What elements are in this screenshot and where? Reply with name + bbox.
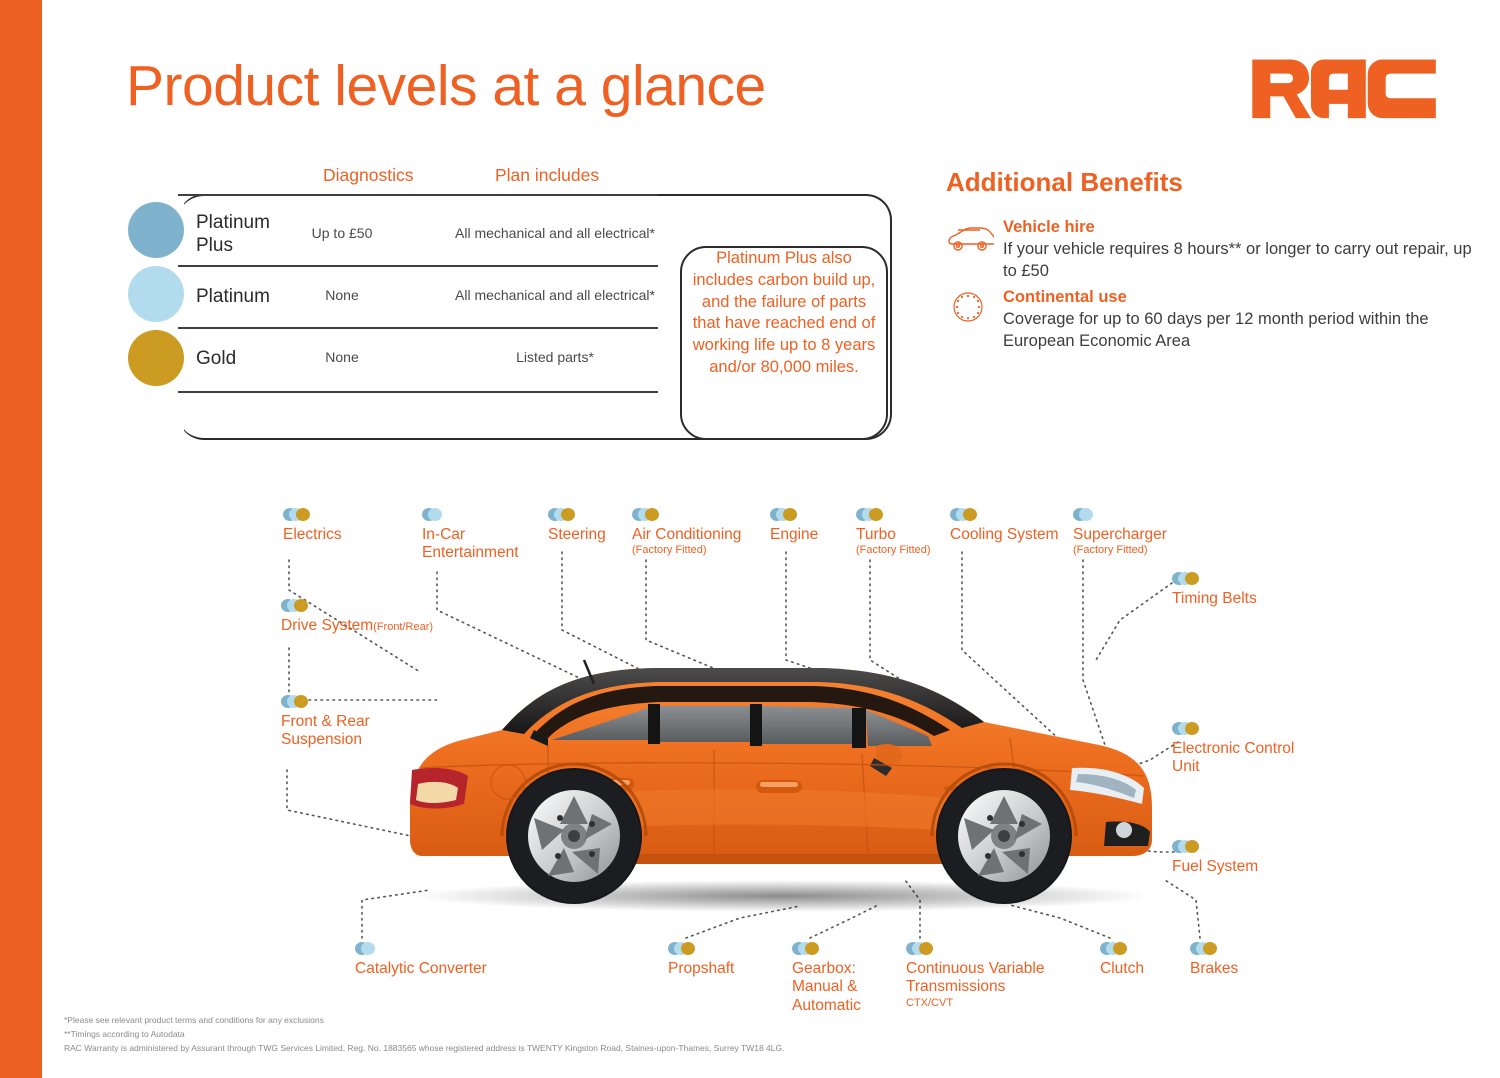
part-label-sub: (Factory Fitted) [632,544,741,557]
footer-line-2: **Timings according to Autodata [64,1027,964,1041]
tier-dots [355,942,487,956]
part-label-electronic-control-unit[interactable]: Electronic Control Unit [1172,722,1294,777]
tier-dots [281,599,433,613]
part-label-text: In-Car Entertainment [422,526,519,563]
part-label-timing-belts[interactable]: Timing Belts [1172,572,1257,608]
part-label-text: Catalytic Converter [355,960,487,978]
tier-dots [1190,942,1238,956]
part-label-text: Steering [548,526,606,544]
tier-dots [668,942,734,956]
part-label-text: Electrics [283,526,342,544]
part-label-cooling-system[interactable]: Cooling System [950,508,1059,544]
footer-line-3: RAC Warranty is administered by Assurant… [64,1041,964,1055]
part-label-text: Propshaft [668,960,734,978]
part-label-propshaft[interactable]: Propshaft [668,942,734,978]
page-title: Product levels at a glance [126,58,766,115]
part-label-text: Front & Rear Suspension [281,713,370,750]
tier-dots [1172,840,1258,854]
platinum-plus-callout-text: Platinum Plus also includes carbon build… [688,248,880,379]
additional-benefits-title: Additional Benefits [946,167,1183,198]
part-label-air-conditioning[interactable]: Air Conditioning (Factory Fitted) [632,508,741,557]
cell-diagnostics-platinum: None [282,287,402,303]
part-label-front-rear-suspension[interactable]: Front & Rear Suspension [281,695,370,750]
part-label-sub: (Factory Fitted) [856,544,931,557]
tier-swatch-gold [128,330,184,386]
table-rule-2 [178,327,658,329]
part-label-turbo[interactable]: Turbo (Factory Fitted) [856,508,931,557]
eu-stars-icon [946,290,994,324]
tier-dots [950,508,1059,522]
tier-dots [1100,942,1144,956]
car-illustration [352,618,1192,923]
cell-diagnostics-gold: None [282,349,402,365]
part-label-text: Brakes [1190,960,1238,978]
table-rule-1 [178,265,658,267]
car-icon [946,220,994,254]
part-label-fuel-system[interactable]: Fuel System [1172,840,1258,876]
part-label-sub: (Factory Fitted) [1073,544,1167,557]
tier-dots [422,508,519,522]
tier-label-platinum: Platinum [196,285,270,308]
tier-dots [1073,508,1167,522]
part-label-cvt[interactable]: Continuous Variable Transmissions CTX/CV… [906,942,1044,1010]
part-label-supercharger[interactable]: Supercharger (Factory Fitted) [1073,508,1167,557]
part-label-catalytic-converter[interactable]: Catalytic Converter [355,942,487,978]
tier-dots [1172,572,1257,586]
tier-dots [283,508,342,522]
part-label-text: Continuous Variable Transmissions [906,960,1044,997]
brand-spine [0,0,42,1078]
part-label-sub: CTX/CVT [906,997,1044,1010]
footer-notes: *Please see relevant product terms and c… [64,1013,964,1055]
part-label-text: Clutch [1100,960,1144,978]
table-rule-top [178,194,658,196]
part-label-drive-system[interactable]: Drive System(Front/Rear) [281,599,433,635]
tier-swatch-platinum [128,266,184,322]
benefit-heading: Vehicle hire [1003,218,1095,237]
part-label-text: Engine [770,526,818,544]
part-label-text: Gearbox: Manual & Automatic [792,960,861,1015]
tier-dots [792,942,861,956]
part-label-text: Turbo [856,526,931,544]
cell-plan-platinum: All mechanical and all electrical* [405,287,705,303]
part-label-gearbox[interactable]: Gearbox: Manual & Automatic [792,942,861,1015]
infographic-canvas: Product levels at a glance Diagnostics P… [0,0,1500,1078]
tier-swatch-platinum-plus [128,202,184,258]
part-label-text: Electronic Control Unit [1172,740,1294,777]
table-header-plan-includes: Plan includes [495,165,599,186]
part-label-text: Cooling System [950,526,1059,544]
part-label-clutch[interactable]: Clutch [1100,942,1144,978]
cell-diagnostics-platinum-plus: Up to £50 [282,225,402,241]
part-label-text: Air Conditioning [632,526,741,544]
tier-dots [770,508,818,522]
tier-dots [632,508,741,522]
tier-dots [548,508,606,522]
benefit-heading: Continental use [1003,288,1127,307]
tier-dots [281,695,370,709]
part-label-electrics[interactable]: Electrics [283,508,342,544]
part-label-in-car-entertainment[interactable]: In-Car Entertainment [422,508,519,563]
table-rule-bottom [178,391,658,393]
part-label-text: Fuel System [1172,858,1258,876]
rac-logo [1250,50,1440,120]
part-label-brakes[interactable]: Brakes [1190,942,1238,978]
tier-dots [906,942,1044,956]
part-label-text: Drive System [281,617,373,634]
part-label-text: Timing Belts [1172,590,1257,608]
part-label-engine[interactable]: Engine [770,508,818,544]
benefit-body: Coverage for up to 60 days per 12 month … [1003,309,1473,353]
tier-dots [856,508,931,522]
tier-dots [1172,722,1294,736]
part-label-sub: (Front/Rear) [373,621,433,633]
cell-plan-gold: Listed parts* [405,349,705,365]
table-header-diagnostics: Diagnostics [323,165,413,186]
tier-label-platinum-plus: Platinum Plus [196,211,270,257]
footer-line-1: *Please see relevant product terms and c… [64,1013,964,1027]
part-label-steering[interactable]: Steering [548,508,606,544]
tier-label-gold: Gold [196,347,236,370]
benefit-body: If your vehicle requires 8 hours** or lo… [1003,239,1473,283]
part-label-text: Supercharger [1073,526,1167,544]
cell-plan-platinum-plus: All mechanical and all electrical* [405,225,705,241]
